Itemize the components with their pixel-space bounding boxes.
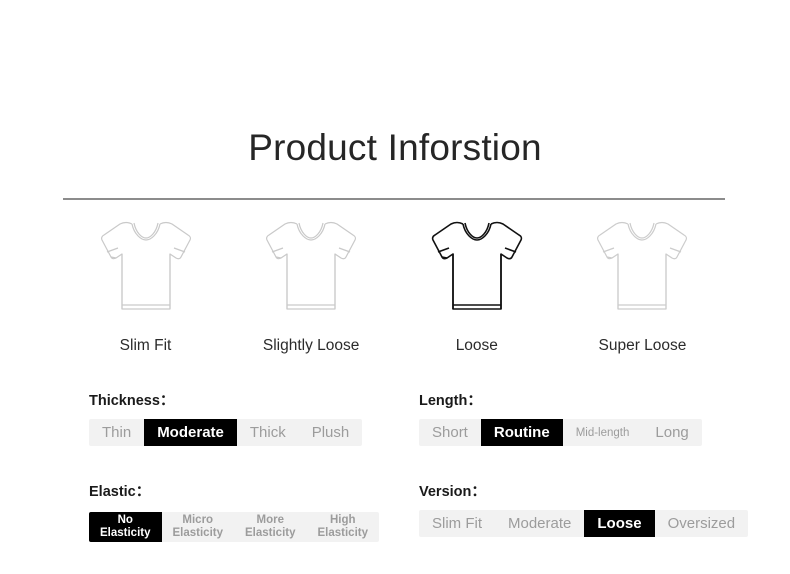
elastic-option-high-elasticity[interactable]: High Elasticity <box>307 512 380 542</box>
elastic-option-group: No Elasticity Micro Elasticity More Elas… <box>89 512 379 542</box>
elastic-option-line2: Elasticity <box>100 527 151 540</box>
attribute-block-elastic: Elastic： No Elasticity Micro Elasticity … <box>89 483 379 542</box>
version-option-slim-fit[interactable]: Slim Fit <box>419 510 495 537</box>
length-option-routine[interactable]: Routine <box>481 419 563 446</box>
long-sleeve-shirt-icon <box>261 214 361 324</box>
fit-gallery: Slim Fit Slightly Loose <box>63 214 725 356</box>
long-sleeve-shirt-icon <box>96 214 196 324</box>
header-divider <box>63 198 725 200</box>
elastic-option-line2: Elasticity <box>318 527 369 540</box>
version-option-oversized[interactable]: Oversized <box>655 510 749 537</box>
elastic-option-line1: Micro <box>182 514 213 527</box>
product-information-page: Product Inforstion Slim Fit <box>0 0 790 538</box>
elastic-option-line1: No <box>118 514 133 527</box>
attribute-block-version: Version： Slim Fit Moderate Loose Oversiz… <box>419 483 748 537</box>
elastic-option-line1: More <box>257 514 284 527</box>
thickness-option-plush[interactable]: Plush <box>299 419 363 446</box>
thickness-option-thick[interactable]: Thick <box>237 419 299 446</box>
length-option-mid-length[interactable]: Mid-length <box>563 419 643 446</box>
fit-option-label: Super Loose <box>599 336 687 356</box>
fit-option-label: Slim Fit <box>120 336 172 356</box>
thickness-option-thin[interactable]: Thin <box>89 419 144 446</box>
version-option-loose[interactable]: Loose <box>584 510 654 537</box>
length-option-group: Short Routine Mid-length Long <box>419 419 702 446</box>
elastic-option-line2: Elasticity <box>245 527 296 540</box>
fit-option-label: Loose <box>456 336 498 356</box>
elastic-option-line1: High <box>330 514 356 527</box>
length-option-short[interactable]: Short <box>419 419 481 446</box>
attribute-row-1: Thickness： Thin Moderate Thick Plush Len… <box>0 392 790 483</box>
fit-option-slightly-loose[interactable]: Slightly Loose <box>229 214 394 356</box>
elastic-option-more-elasticity[interactable]: More Elasticity <box>234 512 307 542</box>
thickness-option-group: Thin Moderate Thick Plush <box>89 419 362 446</box>
length-label: Length： <box>419 392 702 410</box>
fit-option-loose[interactable]: Loose <box>394 214 559 356</box>
attribute-block-length: Length： Short Routine Mid-length Long <box>419 392 702 446</box>
length-option-long[interactable]: Long <box>642 419 701 446</box>
elastic-option-line2: Elasticity <box>173 527 224 540</box>
long-sleeve-shirt-icon <box>592 214 692 324</box>
fit-option-slim-fit[interactable]: Slim Fit <box>63 214 228 356</box>
fit-option-super-loose[interactable]: Super Loose <box>560 214 725 356</box>
fit-option-label: Slightly Loose <box>263 336 360 356</box>
elastic-option-no-elasticity[interactable]: No Elasticity <box>89 512 162 542</box>
long-sleeve-shirt-icon <box>427 214 527 324</box>
thickness-option-moderate[interactable]: Moderate <box>144 419 237 446</box>
thickness-label: Thickness： <box>89 392 362 410</box>
attribute-row-2: Elastic： No Elasticity Micro Elasticity … <box>0 483 790 574</box>
version-label: Version： <box>419 483 748 501</box>
attribute-block-thickness: Thickness： Thin Moderate Thick Plush <box>89 392 362 446</box>
version-option-moderate[interactable]: Moderate <box>495 510 584 537</box>
attribute-sections: Thickness： Thin Moderate Thick Plush Len… <box>0 392 790 574</box>
version-option-group: Slim Fit Moderate Loose Oversized <box>419 510 748 537</box>
page-title: Product Inforstion <box>0 124 790 172</box>
elastic-option-micro-elasticity[interactable]: Micro Elasticity <box>162 512 235 542</box>
elastic-label: Elastic： <box>89 483 379 501</box>
